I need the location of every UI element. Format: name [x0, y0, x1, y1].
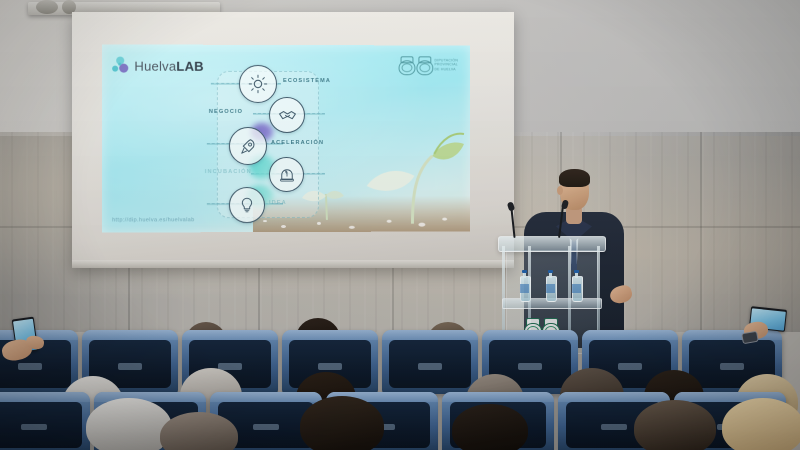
water-bottle: [520, 270, 529, 300]
lectern-top-surface: [498, 236, 606, 252]
audience-head: [634, 400, 716, 450]
auditorium-seat: [382, 330, 478, 394]
funnel-node-ecosistema: [239, 65, 277, 103]
diputacion-logo: DIPUTACIÓN PROVINCIAL DE HUELVA: [399, 56, 458, 73]
audience-head: [86, 398, 172, 450]
funnel-node-incubacion: [269, 157, 304, 192]
funnel-node-negocio: [269, 97, 305, 133]
funnel-node-label: ACELERACIÓN: [271, 140, 324, 146]
roller-bracket-icon: [36, 0, 58, 14]
funnel-node-idea: [229, 187, 265, 223]
audience-head: [300, 396, 384, 450]
huelvalab-logo-text: HuelvaLAB: [134, 58, 203, 73]
water-bottle: [546, 270, 555, 300]
slide-url-text: http://dip.huelva.es/huelvalab: [112, 217, 194, 223]
crowned-shield-icon: [417, 56, 432, 73]
diputacion-line-3: DE HUELVA: [434, 67, 458, 72]
funnel-node-label: NEGOCIO: [209, 109, 243, 115]
diputacion-logo-text: DIPUTACIÓN PROVINCIAL DE HUELVA: [434, 58, 458, 72]
molecule-icon: [112, 57, 130, 75]
audience-head: [452, 404, 528, 450]
funnel-node-label: ECOSISTEMA: [283, 78, 331, 84]
incubator-icon: [278, 165, 296, 183]
funnel-node-label: IDEA: [269, 200, 287, 206]
ear: [557, 186, 563, 195]
funnel-node-aceleracion: [229, 127, 267, 165]
funnel-node-label: INCUBACIÓN: [205, 169, 252, 175]
crowned-shield-icon: [399, 56, 414, 73]
logo-text-light: Huelva: [134, 58, 176, 73]
screen-bottom-bar: [72, 260, 514, 268]
audience-head: [722, 398, 800, 450]
auditorium-seat: [0, 392, 90, 450]
seedling-large-icon: [355, 128, 466, 224]
rocket-icon: [238, 136, 257, 155]
huelvalab-logo: HuelvaLAB: [112, 57, 204, 75]
water-bottle: [572, 270, 581, 300]
conference-photo-scene: HuelvaLAB DIPUTACIÓN PROVINCIAL DE HUELV…: [0, 0, 800, 450]
projected-slide: HuelvaLAB DIPUTACIÓN PROVINCIAL DE HUELV…: [102, 44, 470, 232]
lightbulb-icon: [238, 196, 256, 214]
hair: [559, 169, 590, 187]
handshake-icon: [278, 105, 297, 124]
logo-text-bold: LAB: [176, 58, 203, 73]
sun-icon: [248, 74, 268, 94]
